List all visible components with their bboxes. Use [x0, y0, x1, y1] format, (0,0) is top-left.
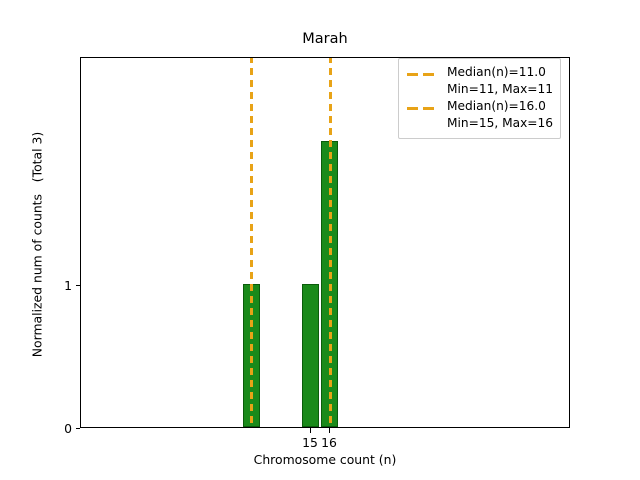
- legend-entry-2-sub: Min=15, Max=16: [447, 115, 553, 132]
- legend-entry-2-label: Median(n)=16.0: [447, 98, 546, 115]
- dashed-line-swatch-icon: [406, 67, 438, 81]
- legend-entry-2: Median(n)=16.0: [406, 98, 553, 115]
- median-line-16-icon: [329, 57, 332, 427]
- y-axis-label: Normalized num of counts (Total 3): [30, 75, 45, 415]
- legend-entry-1-sub: Min=11, Max=11: [447, 81, 553, 98]
- median-line-11-icon: [250, 57, 253, 427]
- y-tick-mark-0: [76, 428, 81, 429]
- x-tick-mark-16: [329, 428, 330, 433]
- y-tick-label-0: 0: [46, 421, 72, 436]
- legend-entry-1: Median(n)=11.0: [406, 64, 553, 81]
- y-tick-mark-1: [76, 285, 81, 286]
- chart-legend[interactable]: Median(n)=11.0 Min=11, Max=11 Median(n)=…: [398, 58, 561, 139]
- legend-entry-1-label: Median(n)=11.0: [447, 64, 546, 81]
- x-tick-mark-15: [310, 428, 311, 433]
- chart-title: Marah: [80, 30, 570, 48]
- y-tick-label-1: 1: [46, 278, 72, 293]
- chart-figure: Marah 0 1 Normalized num of counts (Tota…: [0, 0, 640, 480]
- x-tick-label-16: 16: [309, 435, 349, 450]
- dashed-line-swatch-icon: [406, 101, 438, 115]
- x-axis-label: Chromosome count (n): [80, 452, 570, 467]
